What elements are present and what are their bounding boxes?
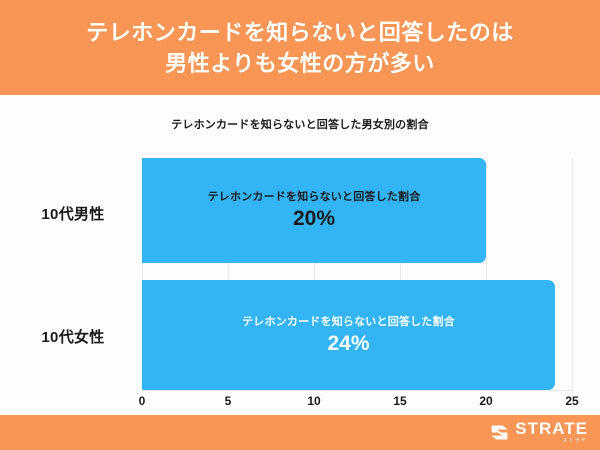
- strate-logo[interactable]: STRATE ストラテ: [489, 420, 588, 445]
- header-banner: テレホンカードを知らないと回答したのは 男性よりも女性の方が多い: [0, 0, 600, 95]
- footer-banner: STRATE ストラテ: [0, 415, 600, 450]
- bar-label-male-teens: テレホンカードを知らないと回答した割合: [208, 189, 421, 205]
- strate-s-logo-icon: [489, 422, 510, 443]
- bar-value-male-teens: 20%: [293, 206, 335, 232]
- strate-logo-subtext: ストラテ: [562, 438, 587, 445]
- xtick-label-10: 10: [307, 394, 320, 408]
- header-title-line-1: テレホンカードを知らないと回答したのは: [86, 17, 514, 48]
- chart-container: テレホンカードを知らないと回答した男女別の割合 テレホンカードを知らないと回答し…: [0, 95, 600, 415]
- bar-female-teens[interactable]: テレホンカードを知らないと回答した割合 24%: [142, 280, 555, 390]
- chart-title: テレホンカードを知らないと回答した男女別の割合: [0, 116, 600, 132]
- bar-label-female-teens: テレホンカードを知らないと回答した割合: [242, 314, 455, 330]
- strate-wordmark: STRATE ストラテ: [515, 420, 588, 445]
- xtick-label-0: 0: [139, 394, 146, 408]
- category-label-female-teens: 10代女性: [10, 326, 136, 347]
- xtick-label-25: 25: [565, 394, 578, 408]
- xtick-label-15: 15: [393, 394, 406, 408]
- strate-logo-text: STRATE: [515, 420, 588, 437]
- gridline-25: [572, 158, 573, 390]
- bar-value-female-teens: 24%: [327, 331, 369, 357]
- header-title-line-2: 男性よりも女性の方が多い: [165, 48, 435, 79]
- xtick-label-5: 5: [225, 394, 232, 408]
- x-axis-line: [142, 390, 573, 391]
- bar-male-teens[interactable]: テレホンカードを知らないと回答した割合 20%: [142, 158, 486, 263]
- xtick-label-20: 20: [479, 394, 492, 408]
- category-label-male-teens: 10代男性: [10, 203, 136, 224]
